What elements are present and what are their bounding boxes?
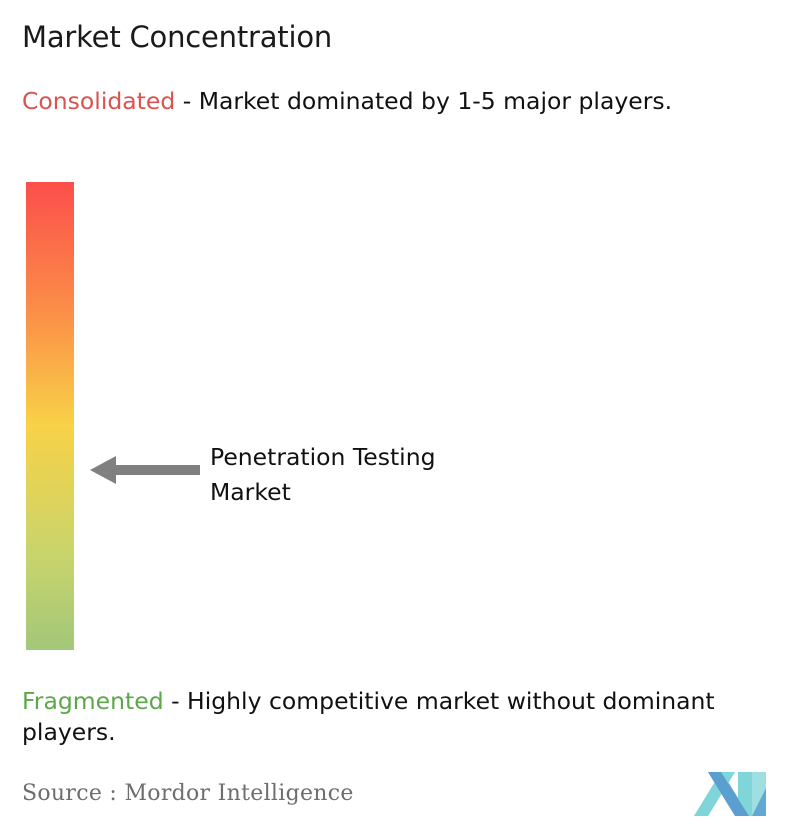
concentration-gradient-bar xyxy=(26,182,74,650)
left-arrow-icon xyxy=(90,452,202,488)
market-position-label: Penetration Testing Market xyxy=(210,440,436,510)
market-position-arrow xyxy=(90,452,202,488)
fragmented-legend: Fragmented - Highly competitive market w… xyxy=(22,686,782,748)
source-attribution: Source : Mordor Intelligence xyxy=(22,781,354,806)
consolidated-keyword: Consolidated xyxy=(22,87,175,115)
mordor-intelligence-logo-icon xyxy=(694,768,776,820)
page-title: Market Concentration xyxy=(22,20,332,54)
brand-logo xyxy=(694,768,776,820)
fragmented-keyword: Fragmented xyxy=(22,687,164,715)
market-concentration-infographic: Market Concentration Consolidated - Mark… xyxy=(0,0,796,834)
consolidated-description: - Market dominated by 1-5 major players. xyxy=(175,87,672,115)
consolidated-legend: Consolidated - Market dominated by 1-5 m… xyxy=(22,86,782,117)
